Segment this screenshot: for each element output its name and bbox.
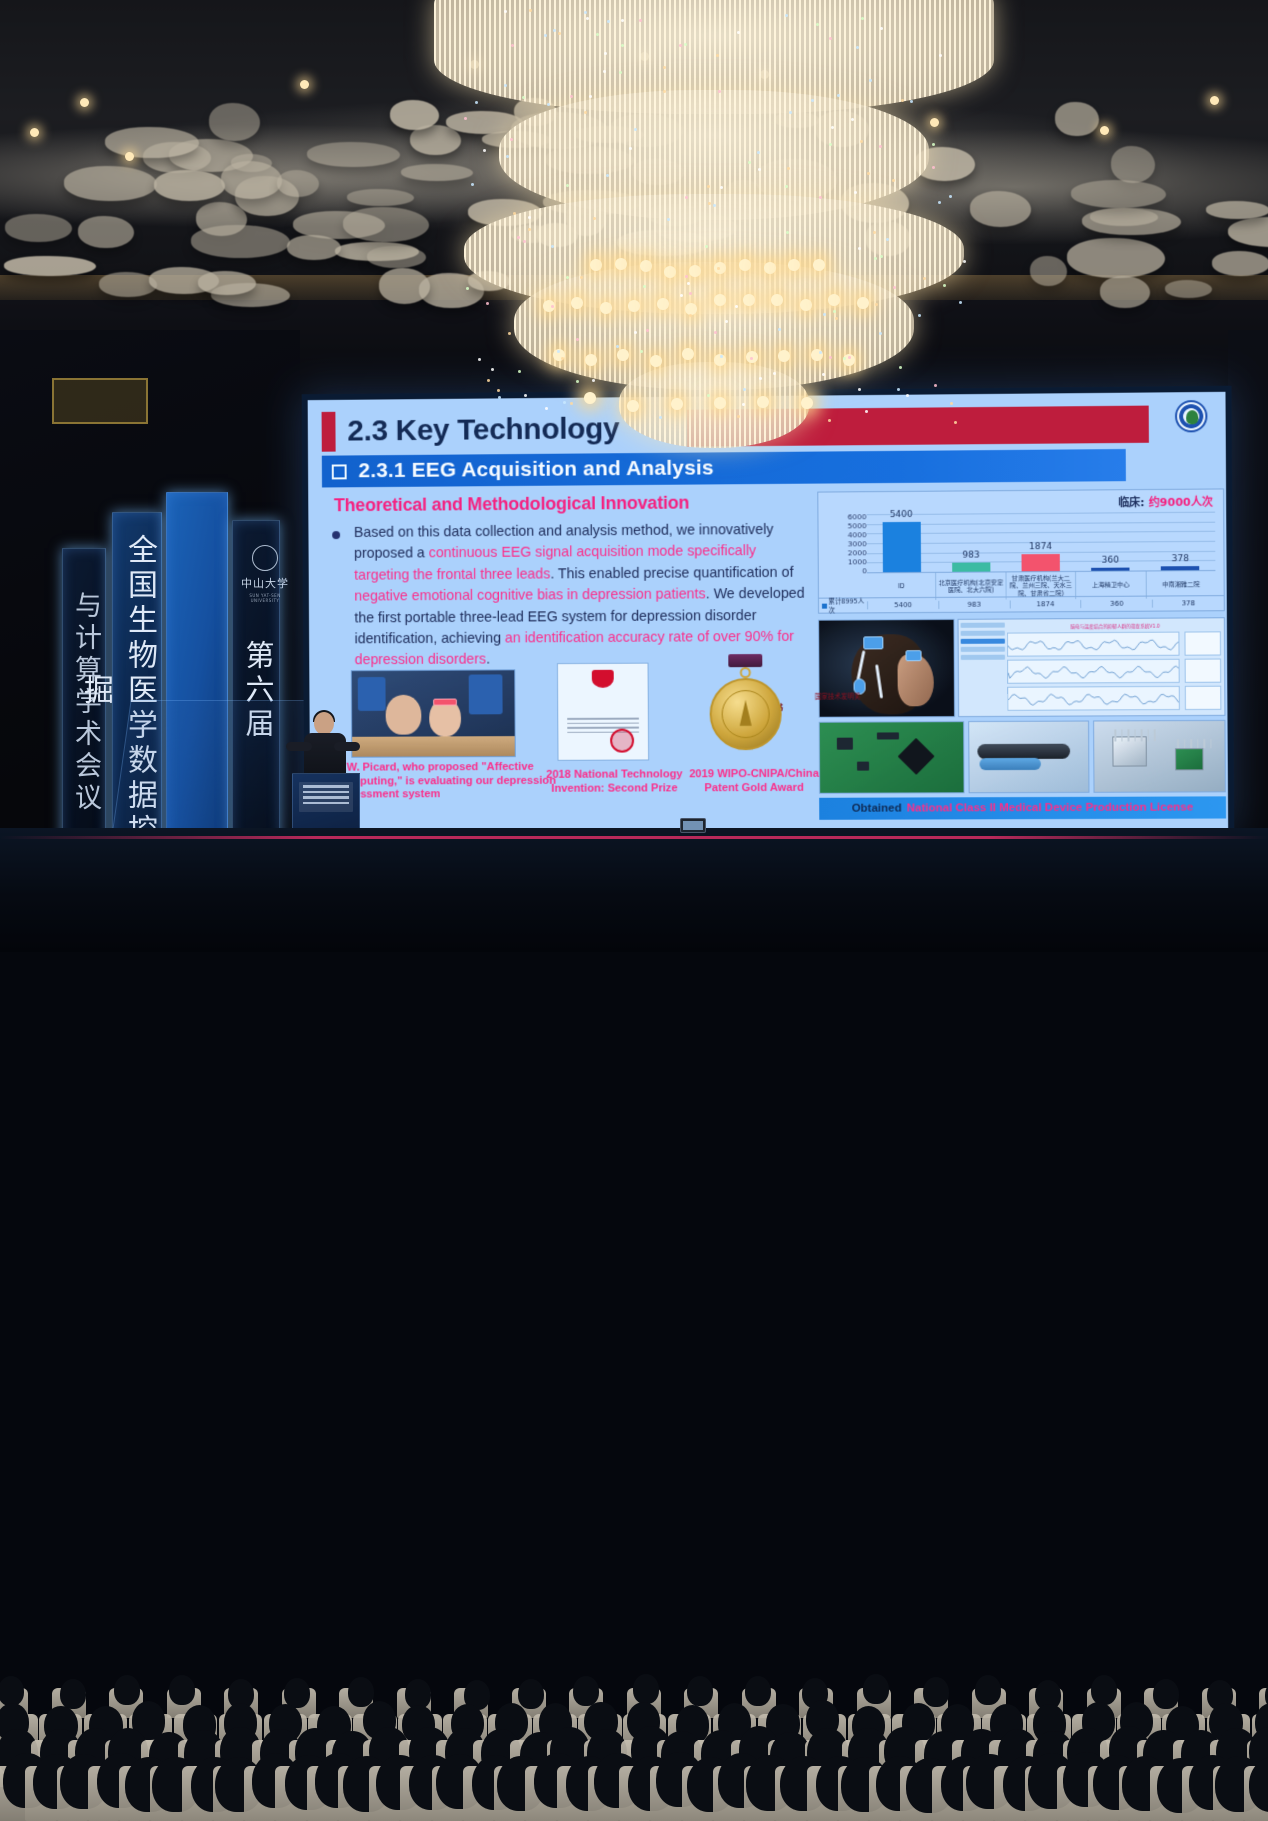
ceiling-panel [1212,251,1268,276]
university-logo: 中山大学 SUN YAT-SEN UNIVERSITY [236,545,294,607]
square-bullet-icon [332,464,347,479]
ceiling-panel [191,225,290,258]
value-cell: 360 [1081,600,1153,608]
bar-value-label: 360 [1076,555,1146,566]
cert-line [567,722,639,724]
ceiling-panel [401,164,472,181]
chart-plot-area: 54009831874360378 [867,512,1216,573]
body-bullet: Based on this data collection and analys… [332,520,808,672]
bar-value-label: 378 [1145,554,1215,565]
bar-slot: 5400 [867,514,937,573]
software-title: 脑电与温度结合的抑郁人群的筛查系统V1.0 [1011,623,1220,630]
slide-title: 2.3 Key Technology [347,407,619,453]
ceiling-panel [367,246,426,268]
connector-pin [1154,730,1156,742]
audience-head [687,1676,713,1706]
ceiling-panel [1071,180,1166,208]
ceiling-panel [647,204,703,226]
photo-seat [358,677,386,711]
ceiling-spotlight [1210,96,1219,105]
presenter-arm-right [334,742,360,751]
ceiling-spotlight [300,80,309,89]
audience-head [0,1676,24,1706]
national-emblem-icon [592,670,614,688]
audience-head [1153,1679,1179,1709]
audience-head [745,1676,771,1706]
chart-value-row: 54009831874360378 [867,599,1224,609]
ceiling-panel [536,223,578,247]
ceiling-panel [1082,208,1181,236]
eeg-electrode-top [863,636,883,649]
ceiling-panel [307,142,400,167]
eeg-trace [1007,659,1180,684]
title-red-bar [687,406,1149,447]
connector-pin [1204,739,1206,748]
ceiling-panel [99,272,158,297]
ceiling-panel [755,159,836,200]
ceiling-spotlight [760,70,769,79]
connector-pin [1191,739,1193,748]
ceiling-panel [277,170,320,197]
audience-head [348,1677,374,1707]
photo-person-left [386,695,422,735]
eeg-waveform-traces [959,618,1224,620]
connector-pin [1128,730,1130,742]
y-tick: 1000 [848,557,867,566]
audience-head [863,1674,889,1704]
caption-award-invention: 2018 National Technology Invention: Seco… [530,768,699,796]
sidebar-chip [961,623,1005,628]
legend-swatch-icon [822,603,827,608]
ceiling-spotlight [125,152,134,161]
y-tick: 5000 [847,521,866,530]
connector-pin [1147,730,1149,742]
slide-title-bar: 2.3 Key Technology [322,402,1216,454]
ceiling-panel [1206,201,1268,219]
ceiling-spotlight [30,128,39,137]
photo-table [352,736,515,757]
ceiling-panel [970,191,1031,227]
caption-award-patent: 2019 WIPO-CNIPA/China Patent Gold Award [675,768,833,796]
value-cell: 983 [938,600,1009,608]
chart-bar [1021,553,1059,571]
ceiling-panel [347,189,415,206]
ceiling-panel [815,111,869,147]
medal-ribbon [728,654,762,667]
university-latin-name: SUN YAT-SEN UNIVERSITY [236,593,294,603]
ceiling-panel [78,216,134,248]
ceiling-panel [1030,256,1067,286]
sidebar-chip [961,647,1005,652]
bullet-dot-icon [332,531,340,539]
ceiling-panel [707,270,797,306]
ceiling-panel [1100,276,1151,308]
audience-head [169,1675,195,1705]
audience-head [975,1675,1001,1705]
ceiling-panel [545,146,635,174]
clinical-note-label: 临床: [1118,496,1145,509]
bar-value-label: 5400 [866,509,935,520]
ceiling-panel [209,103,260,141]
stage-edge-rail [0,836,1268,839]
audience-head [518,1679,544,1709]
body-highlight: negative emotional cognitive bias in dep… [354,587,705,605]
value-cell: 378 [1152,599,1224,607]
ceiling-panel [64,166,156,201]
podium-sign-line [303,785,349,788]
cert-line [567,727,639,729]
ceiling-spotlight [80,98,89,107]
ceiling-panel [4,256,96,276]
sidebar-chip [961,655,1005,660]
connector-pin [1141,730,1143,742]
gold-medal [706,654,785,758]
university-name: 中山大学 [236,575,294,591]
audience-head [60,1679,86,1709]
value-cell: 1874 [1009,600,1080,608]
presenter [300,712,352,782]
bar-value-label: 983 [936,550,1006,561]
ceiling-panel [221,161,282,199]
audience-head [114,1675,140,1705]
presenter-arm-left [286,742,312,751]
photo-headband [433,699,457,706]
ceiling-panel [468,199,542,226]
podium-sign-line [303,796,349,799]
chart-y-axis: 6000500040003000200010000 [826,512,866,574]
ceiling-panel [1111,146,1155,183]
ceiling-spotlight [930,118,939,127]
ceiling-panel [841,183,909,223]
connector-pin [1184,739,1186,748]
podium-sign-line [303,802,349,805]
clinical-note-value: 约9000人次 [1149,496,1213,510]
eeg-spectrum-mini [1184,631,1221,655]
sidebar-chip-active [961,639,1005,644]
medal-spire-icon [740,700,752,726]
eeg-electrode-front [905,650,921,661]
caption-picard: R.W. Picard, who proposed "Affective Com… [336,761,560,802]
invention-certificate: 国家技术发明奖 证 书 [557,663,649,761]
ceiling-panel [154,170,226,201]
chart-legend: 累计8995人次 [819,596,867,614]
connector-pin [1121,730,1123,742]
ceiling-panel [5,214,72,242]
audience-head [633,1674,659,1704]
ceiling-panel [468,271,510,291]
hall-right-wall [1228,330,1268,850]
cert-line [567,718,639,720]
bar-slot: 360 [1075,512,1145,571]
connector-pin [1177,739,1179,748]
clinical-note: 临床: 约9000人次 [1118,494,1213,511]
section-heading: Theoretical and Methodological Innovatio… [334,493,689,517]
body-plain: . [486,652,490,668]
sensor-module-small [1175,748,1203,770]
eeg-trace [1007,632,1180,657]
podium-signage [299,782,353,812]
audience-head [923,1677,949,1707]
ceiling-panel [287,235,341,260]
bar-slot: 378 [1145,512,1215,571]
ceiling-panel [865,221,911,255]
projection-screen: 2.3 Key Technology 2.3.1 EEG Acquisition… [302,386,1235,837]
photo-seat [469,674,503,714]
slide-subtitle-bar: 2.3.1 EEG Acquisition and Analysis [322,449,1126,487]
ceiling-panel [390,100,439,130]
university-emblem-icon [252,545,278,571]
ceiling-panel [379,268,430,303]
chart-bar [952,562,990,571]
ceiling-panel [1165,280,1212,297]
sidebar-chip [961,631,1005,636]
ceiling-panel [914,147,975,181]
ceiling-panel [632,159,684,185]
institution-logo-icon [1175,400,1208,432]
slide-subtitle: 2.3.1 EEG Acquisition and Analysis [358,456,714,483]
bar-value-label: 1874 [1006,541,1076,552]
connector-pin [1197,739,1199,748]
medal-disc [709,678,781,750]
ceiling-panel [1055,102,1099,137]
legend-text: 累计8995人次 [829,596,868,614]
ceiling-panel [343,207,430,241]
certificate-seal-icon [610,729,634,753]
podium-sign-line [303,791,349,794]
picard-photo [351,669,516,757]
y-tick: 2000 [848,548,867,557]
eeg-spectrum-mini [1185,686,1222,710]
medal-ring [740,667,751,678]
y-tick: 3000 [848,539,867,548]
chart-legend-row: 累计8995人次 54009831874360378 [819,595,1224,613]
audience-phone-camera [680,818,706,833]
ceiling-panel [609,114,683,147]
bar-slot: 983 [936,513,1006,572]
y-tick: 4000 [847,530,866,539]
y-tick: 6000 [847,512,866,521]
body-paragraph: Based on this data collection and analys… [354,520,809,672]
body-plain: . This enabled precise quantification of [550,565,793,583]
ceiling-spotlight [470,60,479,69]
audience-area [0,828,1268,952]
bar-slot: 1874 [1006,513,1076,572]
presenter-head [314,712,334,735]
connector-pin [1210,739,1212,748]
ceiling-spotlight [640,52,649,61]
title-accent-block [322,412,336,452]
ceiling-panel [105,127,198,158]
presentation-slide: 2.3 Key Technology 2.3.1 EEG Acquisition… [308,392,1229,833]
eeg-spectrum-mini [1185,659,1222,683]
conference-hall-scene: 与计算学术会议 全国生物医学数据挖掘 第六届 中山大学 SUN YAT-SEN … [0,0,1268,952]
audience-head [1091,1675,1117,1705]
chart-bar [882,521,920,572]
connector-pin [1134,730,1136,742]
wall-gold-frame [52,378,148,424]
clinical-usage-chart: 临床: 约9000人次 6000500040003000200010000 54… [817,488,1225,613]
value-cell: 5400 [867,601,938,609]
ceiling-spotlight [1100,126,1109,135]
ceiling-panel [1067,238,1165,278]
ceiling-panel [198,271,257,295]
